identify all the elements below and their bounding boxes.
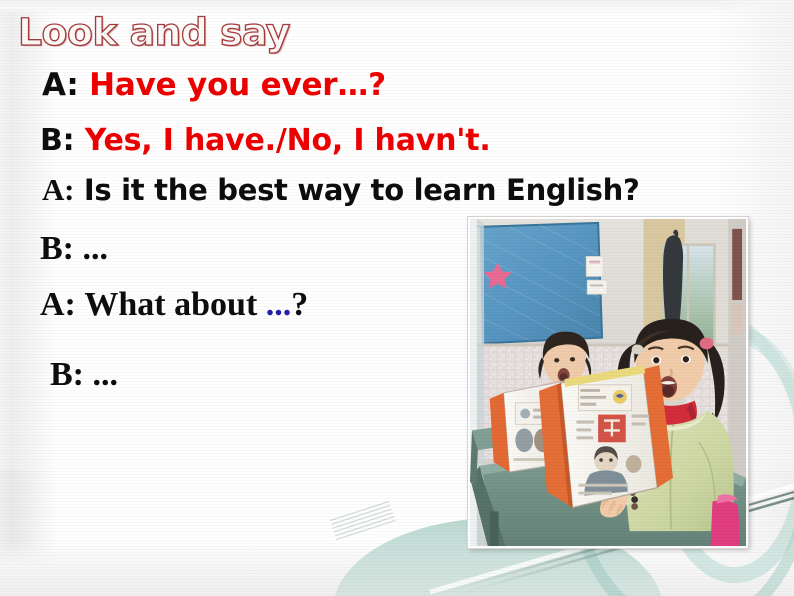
dialogue-line-3: A: Is it the best way to learn English? [42,174,640,205]
dialogue-speaker-b2: B: [40,230,74,267]
classroom-photo-illustration [470,219,746,546]
dialogue-line-5: A: What about ...? [40,288,308,322]
dialogue-text-6: ... [93,356,119,393]
dialogue-line-2: B: Yes, I have./No, I havn't. [40,126,491,156]
classroom-photo [468,217,748,548]
dialogue-text-5-before: What about [84,286,265,323]
dialogue-line-4: B: ... [40,232,108,266]
dialogue-ellipsis-blue: ... [266,286,292,323]
dialogue-line-1: A: Have you ever…? [42,70,386,101]
dialogue-text-4: ... [83,230,109,267]
dialogue-speaker-b1: B: [40,123,74,158]
dialogue-speaker-b3: B: [50,356,84,393]
dialogue-speaker-a1: A: [42,67,79,103]
dialogue-speaker-a2: A: [42,172,74,207]
dialogue-line-6: B: ... [50,358,118,392]
dialogue-text-1: Have you ever…? [89,67,386,103]
dialogue-speaker-a3: A: [40,286,76,323]
dialogue-text-2: Yes, I have./No, I havn't. [85,123,491,158]
dialogue-text-5-after: ? [291,286,308,323]
slide-canvas: Look and say A: Have you ever…? B: Yes, … [0,0,794,596]
dialogue-text-3: Is it the best way to learn English? [84,173,640,207]
